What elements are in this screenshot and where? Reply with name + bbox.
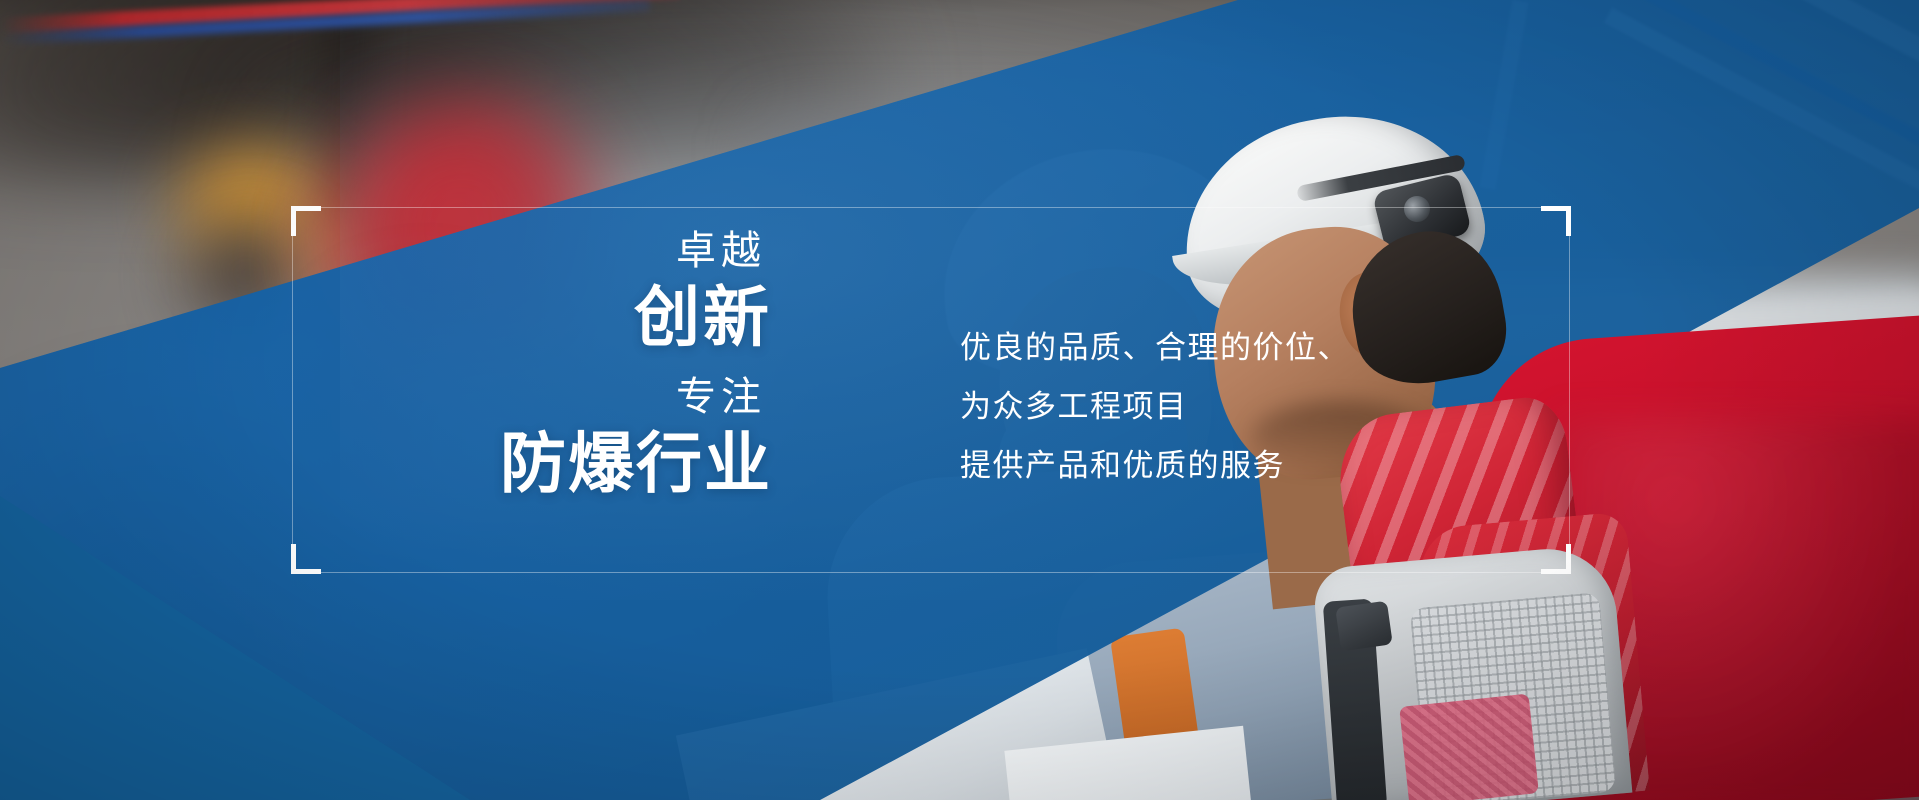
foreground-worker xyxy=(0,0,1919,800)
hero-banner: 卓越 创新 专注 防爆行业 优良的品质、合理的价位、 为众多工程项目 提供产品和… xyxy=(0,0,1919,800)
worker-vest-patch xyxy=(1399,693,1539,800)
worker-vest-buckle xyxy=(1335,601,1393,652)
